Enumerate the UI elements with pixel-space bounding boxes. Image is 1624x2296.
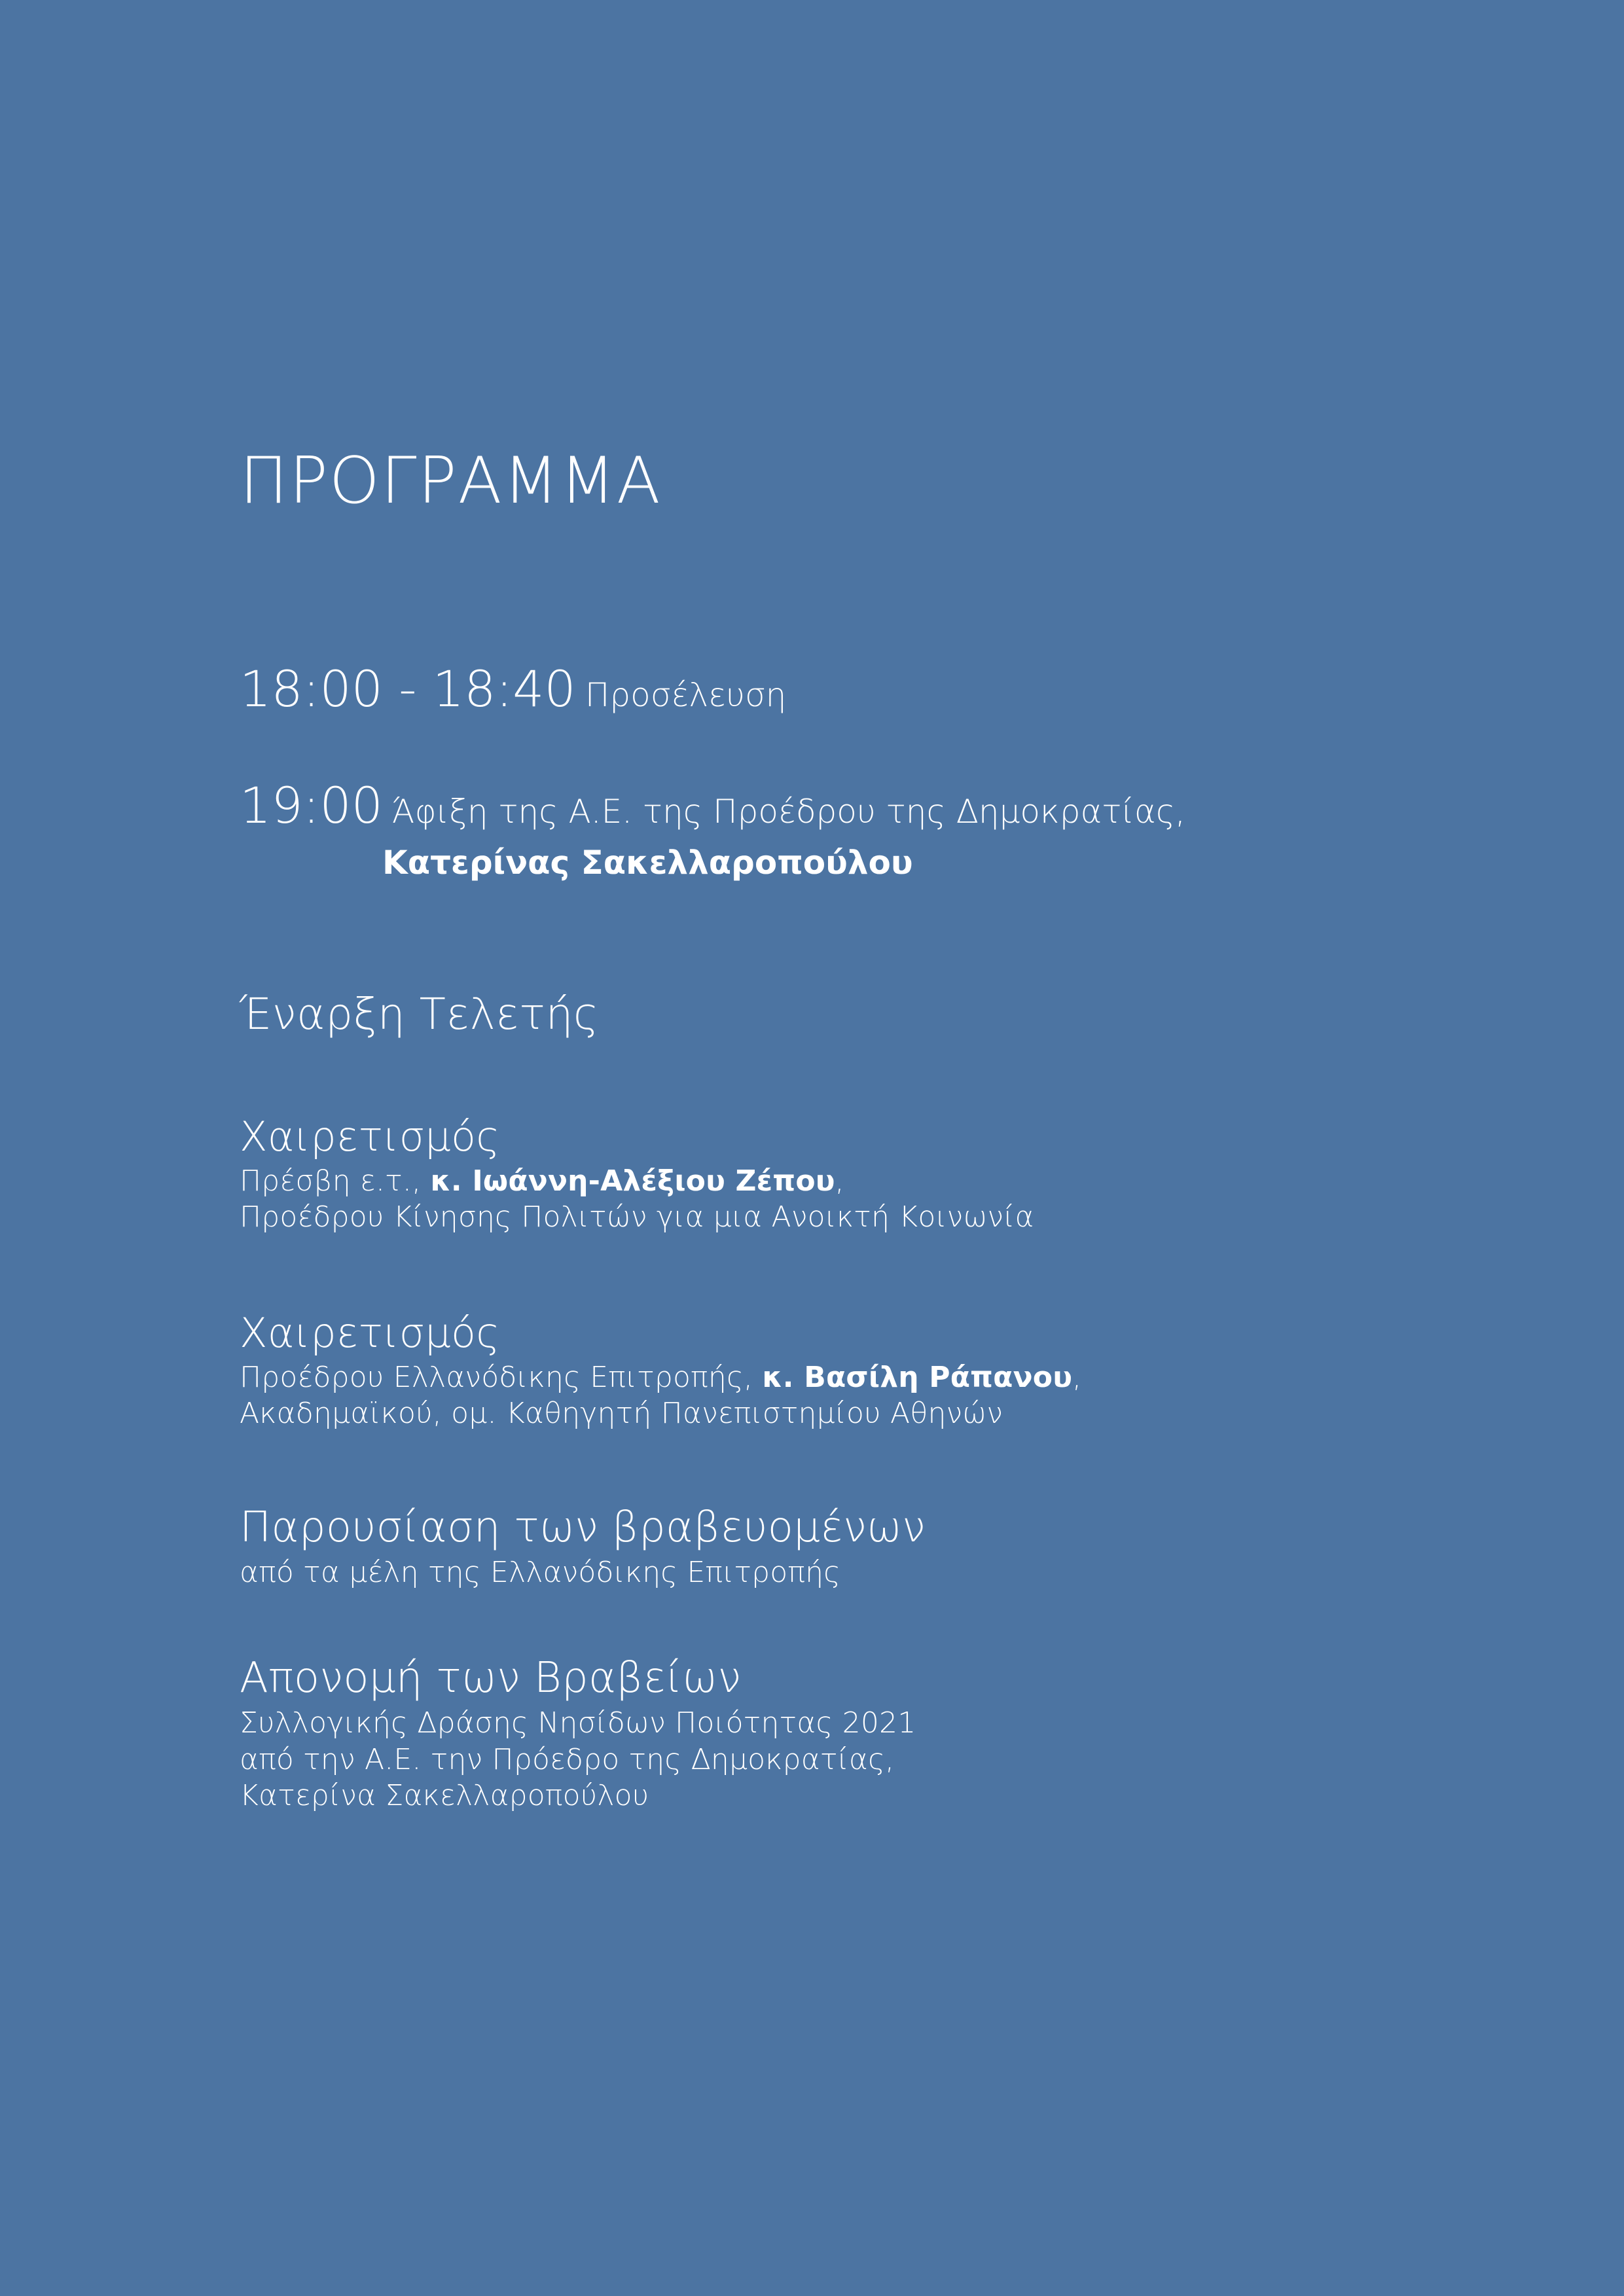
program-block-presentation: Παρουσίαση των βραβευομένων από τα μέλη …	[240, 1505, 1418, 1591]
block-title-presentation: Παρουσίαση των βραβευομένων	[240, 1505, 1418, 1551]
ceremony-start-heading: Έναρξη Τελετής	[240, 989, 599, 1039]
schedule-subline-2: Κατερίνας Σακελλαροπούλου	[382, 844, 1185, 882]
program-block-greeting-2: Χαιρετισμός Προέδρου Ελλανόδικης Επιτροπ…	[240, 1312, 1418, 1432]
block-line-presentation-a: από τα μέλη της Ελλανόδικης Επιτροπής	[240, 1554, 1418, 1590]
page-title: ΠΡΟΓΡΑΜΜΑ	[240, 449, 662, 513]
block-line-greeting-2a: Προέδρου Ελλανόδικης Επιτροπής, κ. Βασίλ…	[240, 1359, 1418, 1395]
block-title-greeting-2: Χαιρετισμός	[240, 1312, 1418, 1355]
block-line-awards-b: από την Α.Ε. την Πρόεδρο της Δημοκρατίας…	[240, 1742, 1418, 1778]
block-line-greeting-1a: Πρέσβη ε.τ., κ. Ιωάννη-Αλέξιου Ζέπου,	[240, 1163, 1418, 1199]
greeting-1-name: κ. Ιωάννη-Αλέξιου Ζέπου	[430, 1164, 835, 1198]
program-page: ΠΡΟΓΡΑΜΜΑ 18:00 - 18:40Προσέλευση 19:00Ά…	[0, 0, 1624, 2296]
schedule-description-1: Προσέλευση	[585, 676, 787, 714]
block-line-awards-a: Συλλογικής Δράσης Νησίδων Ποιότητας 2021	[240, 1705, 1418, 1741]
greeting-2-comma: ,	[1072, 1361, 1081, 1394]
greeting-2-role: Προέδρου Ελλανόδικης Επιτροπής,	[240, 1361, 762, 1394]
block-line-greeting-1b: Προέδρου Κίνησης Πολιτών για μια Ανοικτή…	[240, 1199, 1418, 1235]
schedule-time-2: 19:00	[240, 776, 383, 834]
block-title-awards: Απονομή των Βραβείων	[240, 1656, 1418, 1701]
greeting-2-name: κ. Βασίλη Ράπανου	[762, 1361, 1072, 1394]
greeting-1-comma: ,	[835, 1164, 844, 1198]
block-line-awards-presenter: Κατερίνα Σακελλαροπούλου	[240, 1778, 1418, 1814]
schedule-item-2: 19:00Άφιξη της Α.Ε. της Προέδρου της Δημ…	[240, 776, 1185, 882]
block-line-greeting-2b: Ακαδημαϊκού, ομ. Καθηγητή Πανεπιστημίου …	[240, 1395, 1418, 1431]
program-block-awards: Απονομή των Βραβείων Συλλογικής Δράσης Ν…	[240, 1656, 1418, 1814]
schedule-item-1: 18:00 - 18:40Προσέλευση	[240, 660, 786, 718]
block-title-greeting-1: Χαιρετισμός	[240, 1115, 1418, 1159]
greeting-1-role: Πρέσβη ε.τ.,	[240, 1164, 430, 1198]
schedule-description-2: Άφιξη της Α.Ε. της Προέδρου της Δημοκρατ…	[392, 793, 1185, 831]
schedule-time-1: 18:00 - 18:40	[240, 660, 576, 718]
program-block-greeting-1: Χαιρετισμός Πρέσβη ε.τ., κ. Ιωάννη-Αλέξι…	[240, 1115, 1418, 1236]
